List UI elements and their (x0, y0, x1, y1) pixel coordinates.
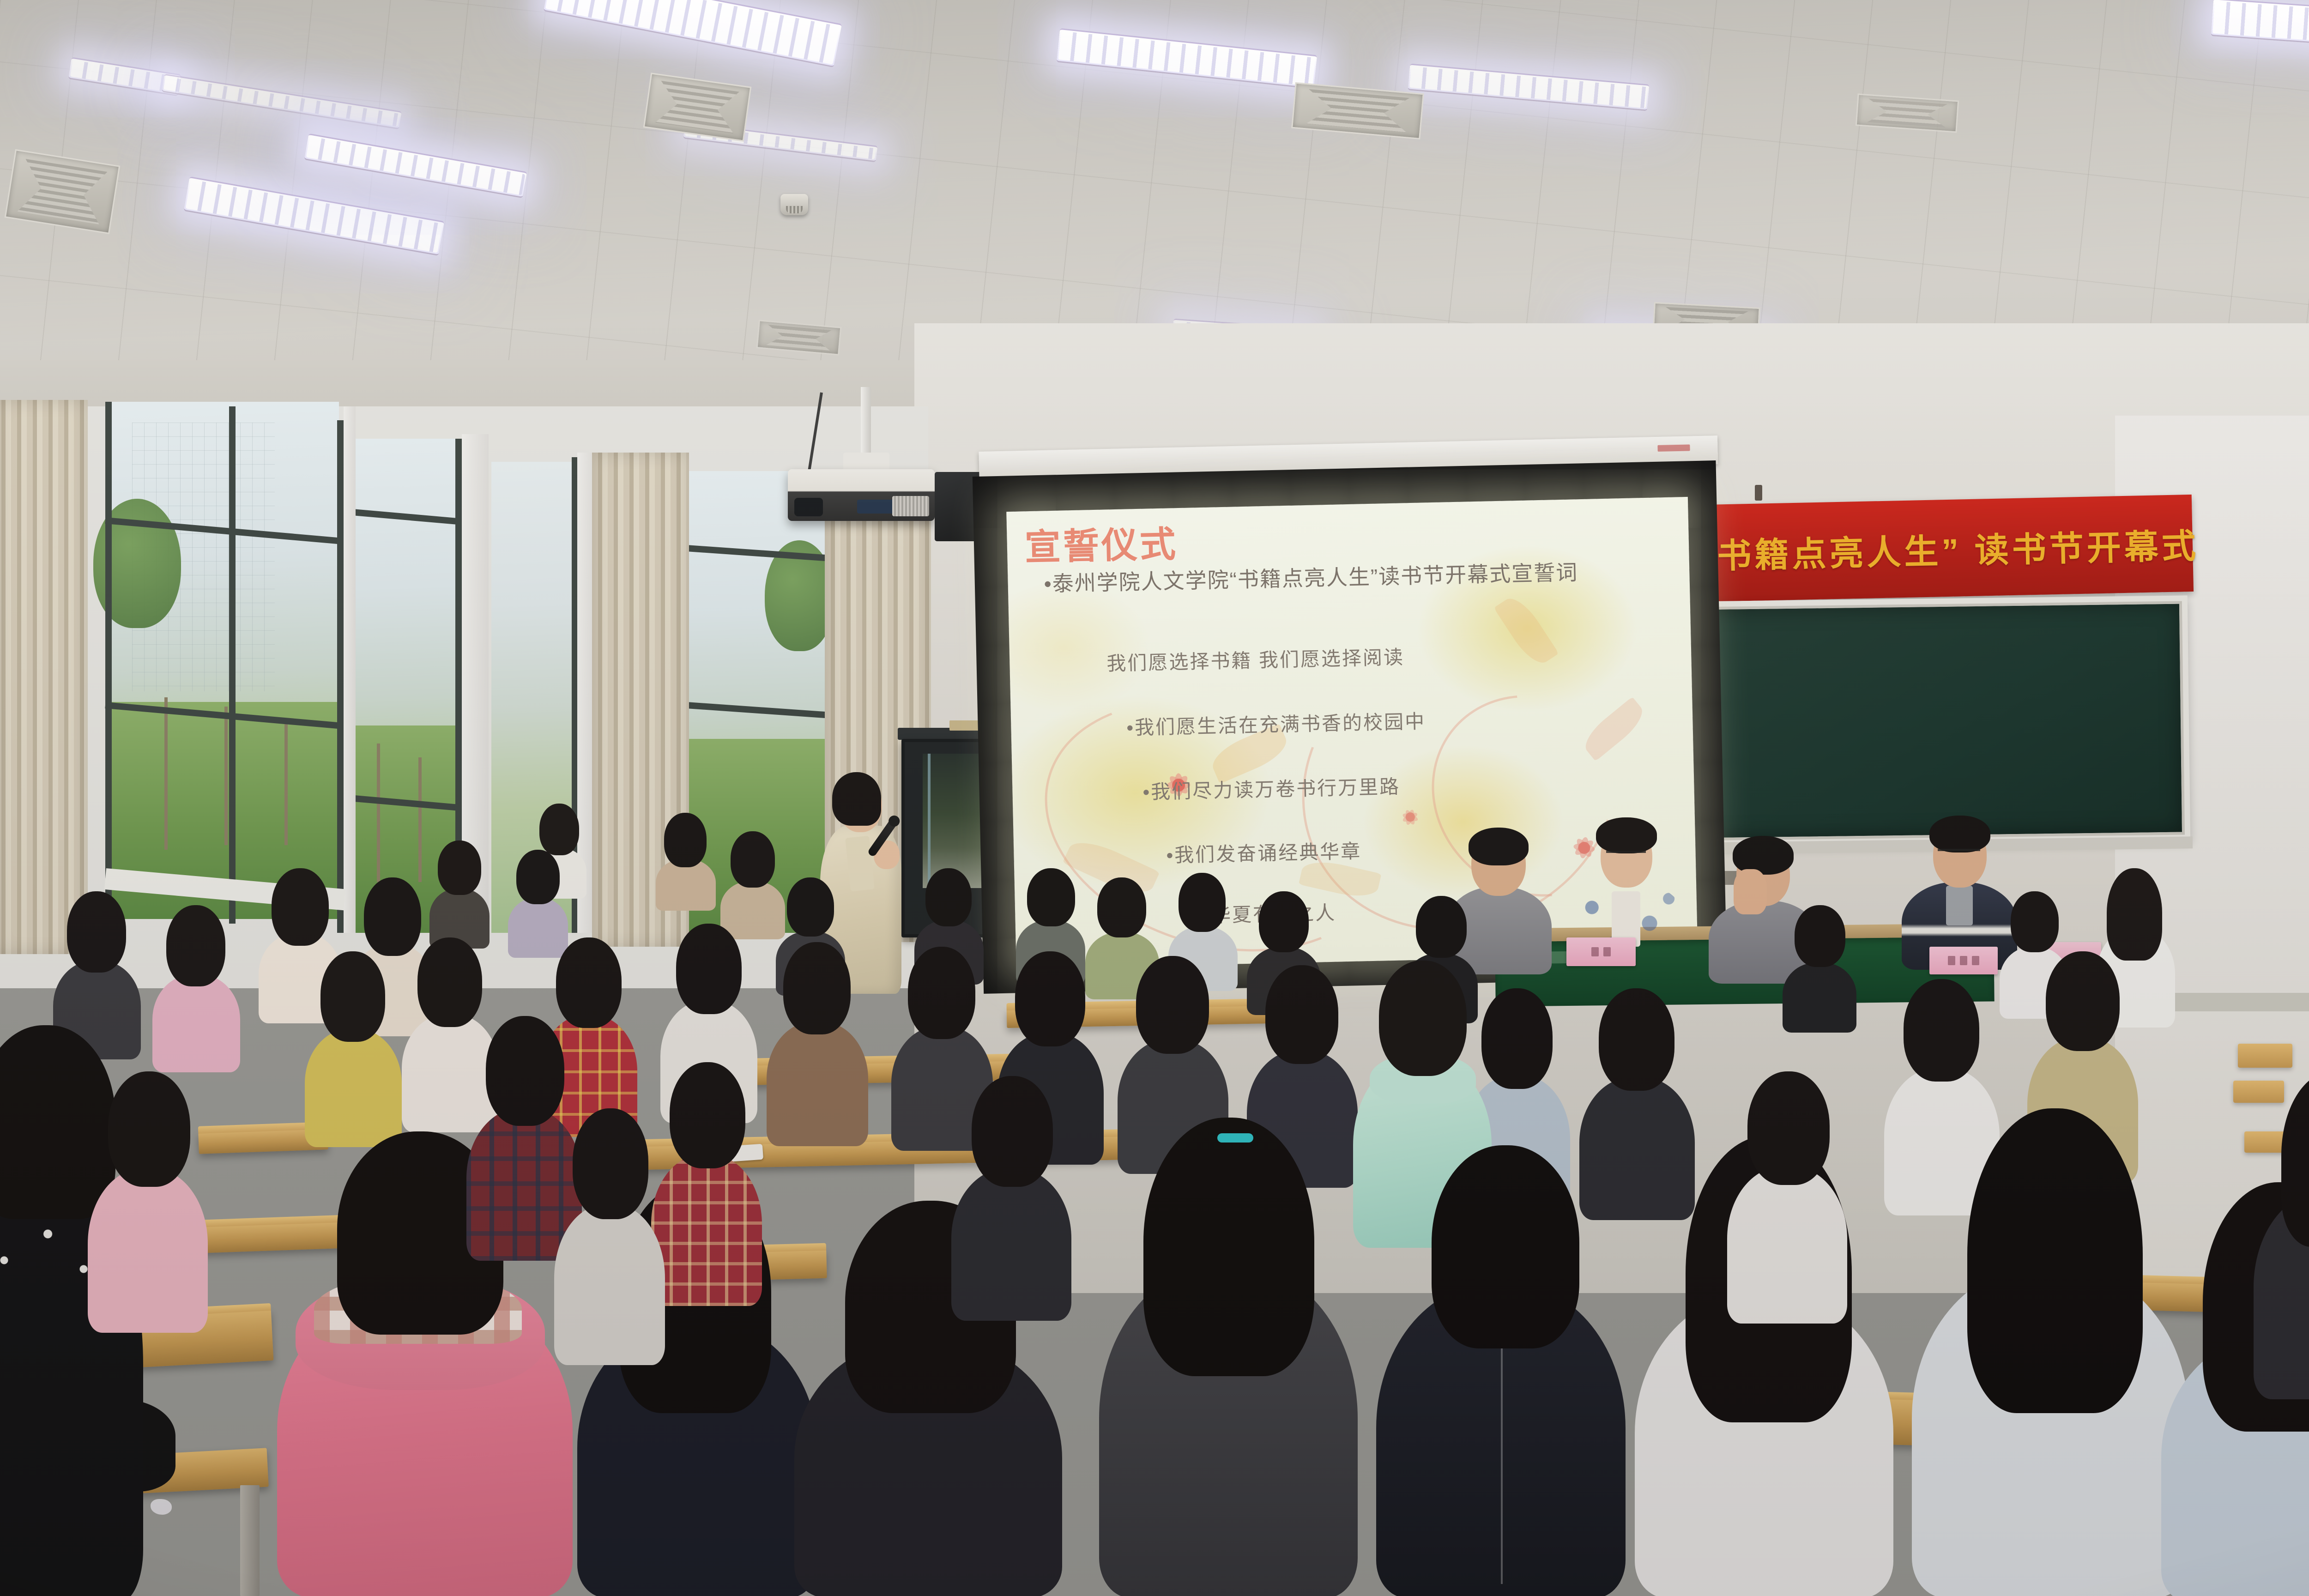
panelist-right-hair (1929, 816, 1990, 852)
curtain-left (0, 400, 88, 954)
chair-back-right-1 (2238, 1044, 2292, 1068)
window-mullion-v2 (229, 406, 236, 924)
nameplate-right (1929, 947, 1998, 974)
blackboard (1689, 595, 2190, 846)
projector (788, 469, 935, 521)
panelist-left-hair (1469, 828, 1529, 865)
audience-back-12 (1783, 905, 1856, 1030)
speaker-hair (832, 772, 881, 826)
classroom-photo: “书籍点亮人生” 读书节开幕式 (0, 0, 2309, 1596)
audience-denim-jacket (1376, 1145, 1626, 1596)
slide-line-4: •我们发奋诵经典华章 (1166, 836, 1362, 868)
projector-pole (861, 387, 871, 456)
desk-leg-2 (240, 1485, 260, 1596)
crumpled-paper (151, 1499, 172, 1515)
slide-line-1: 我们愿选择书籍 我们愿选择阅读 (1106, 641, 1405, 676)
red-banner: “书籍点亮人生” 读书节开幕式 (1702, 495, 2194, 602)
petal-decor-2 (1493, 592, 1559, 670)
audience-foreground-right-4 (2254, 1071, 2309, 1395)
flower-decor-3 (1391, 798, 1429, 836)
audience-extra-6 (554, 1108, 665, 1358)
projector-vent-grille (892, 496, 929, 516)
slide-line-3: •我们尽力读万卷书行万里路 (1142, 771, 1401, 805)
panelist-hof-hair (1733, 836, 1794, 875)
audience-extra-3 (651, 1062, 762, 1302)
screen-brand-logo (1657, 444, 1690, 452)
audience-mid-3 (152, 905, 240, 1071)
audience-back-2 (656, 813, 716, 910)
panelist-right-inner-shirt (1946, 886, 1973, 925)
panelist-center-glasses (1606, 851, 1646, 854)
mint-jacket-hair (1379, 961, 1467, 1076)
slide-title: 宣誓仪式 (1024, 515, 1179, 570)
window-mullion-v3 (337, 420, 344, 933)
audience-mid-5 (305, 951, 402, 1145)
petal-decor-3 (1578, 697, 1649, 762)
nameplate-center (1566, 937, 1636, 966)
audience-extra-4 (88, 1071, 208, 1330)
audience-back-3 (720, 831, 785, 937)
audience-lace-collar (1099, 1118, 1358, 1596)
projector-lens (794, 498, 823, 516)
window-mullion-v1 (105, 402, 112, 924)
audience-extra-1 (951, 1076, 1071, 1316)
denim-jacket-hair (1432, 1145, 1579, 1348)
lace-collar-hair (1143, 1118, 1314, 1376)
audience-mid-9 (767, 942, 868, 1145)
audience-back-5 (429, 840, 490, 947)
panelist-center-hair (1596, 817, 1657, 853)
banner-text: “书籍点亮人生” 读书节开幕式 (1696, 518, 2200, 578)
hair-clip (1217, 1133, 1253, 1143)
panelist-right-glasses (1938, 849, 1980, 852)
panelist-hof-hand (1734, 869, 1767, 914)
slide-line-2: •我们愿生活在充满书香的校园中 (1126, 706, 1426, 740)
audience-foreground-right-2 (1912, 1108, 2189, 1596)
smoke-detector (780, 194, 808, 215)
window-column-1 (344, 406, 356, 933)
window-pane-left (109, 402, 339, 919)
audience-extra-2 (1727, 1071, 1847, 1321)
banner-hook (1755, 485, 1762, 501)
blackboard-surface (1694, 601, 2185, 841)
